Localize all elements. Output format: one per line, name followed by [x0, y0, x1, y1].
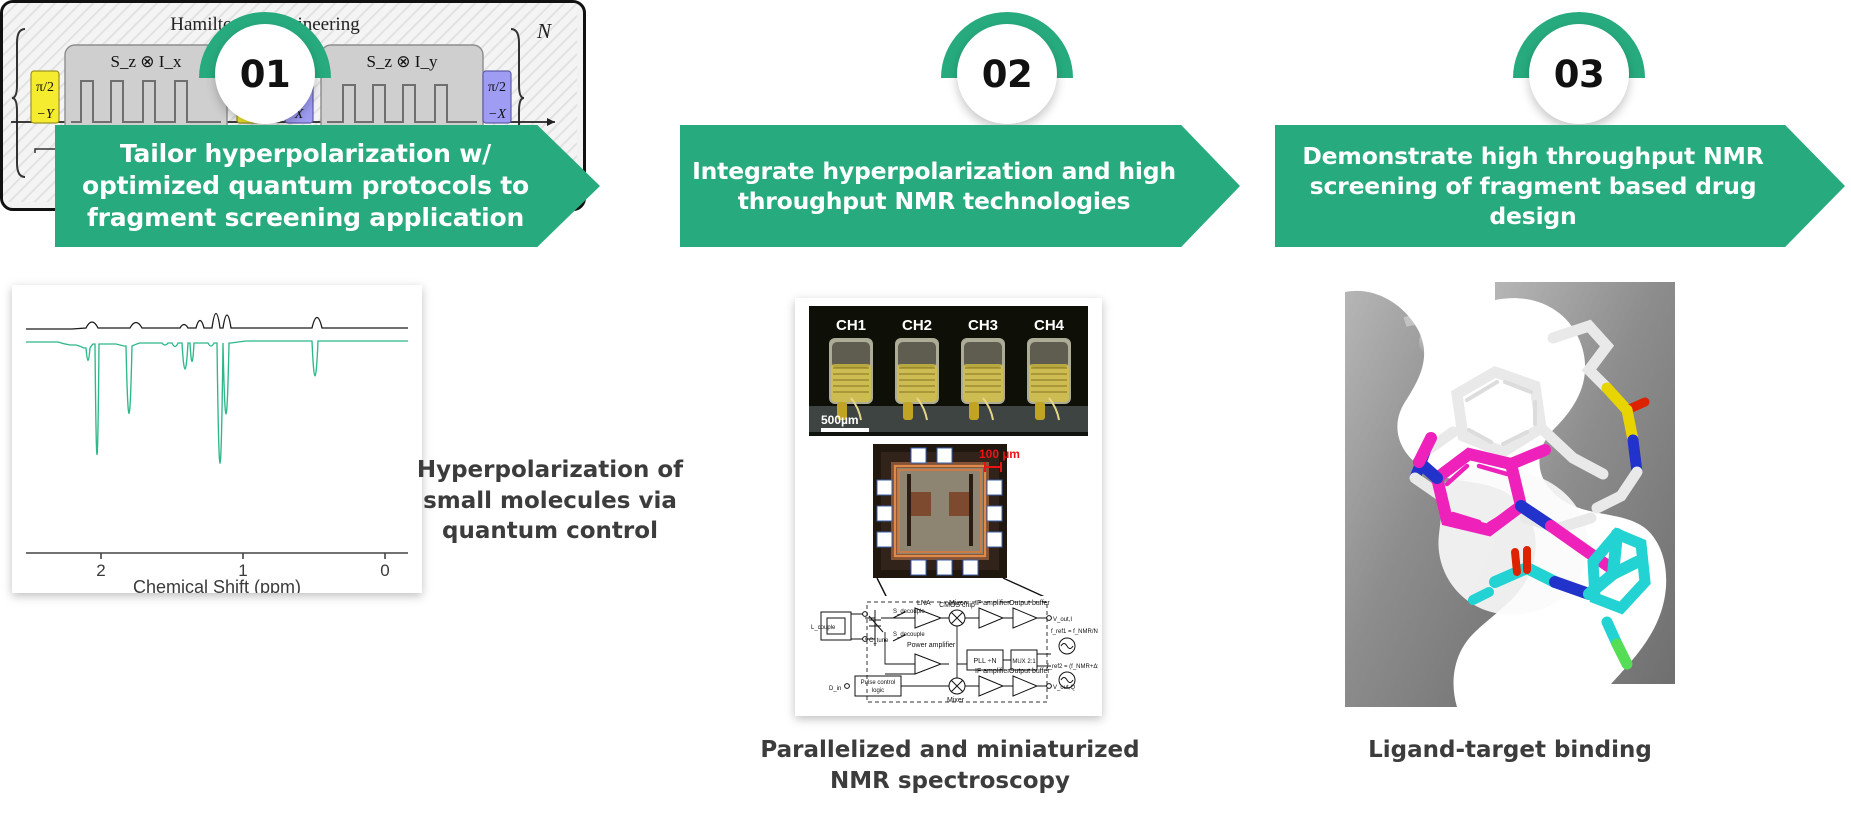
- x-axis-label: Chemical Shift (ppm): [133, 577, 301, 593]
- nmr-spectrum-svg: 2 1 0 Chemical Shift (ppm): [12, 285, 422, 593]
- column-2: 02 Integrate hyperpolarization and high …: [675, 0, 1260, 817]
- caption-column-3: Ligand-target binding: [1345, 735, 1675, 766]
- badge-number: 01: [240, 53, 291, 96]
- pulse-bottom-4: −X: [488, 107, 506, 122]
- badge-circle: 03: [1529, 24, 1629, 124]
- label-din: D_in: [829, 686, 841, 692]
- label-sdecouple-2: S_decouple: [893, 632, 925, 638]
- channel-label-2: CH2: [902, 317, 932, 334]
- block-label-if-amp-2: IF amplifier: [975, 668, 1010, 675]
- caption-column-1: Hyperpolarization of small molecules via…: [415, 455, 685, 547]
- pulse-box-minus-y: π/2 −Y: [31, 71, 59, 123]
- x-tick-label-2: 2: [96, 561, 105, 580]
- channel-label-3: CH3: [968, 317, 998, 334]
- scale-bar-label-100um: 100 µm: [979, 447, 1020, 461]
- nmr-spectrum-figure: 2 1 0 Chemical Shift (ppm): [12, 285, 422, 593]
- block-label-mixer-2: Mixer: [947, 697, 965, 704]
- block-operator-2: S_z ⊗ I_y: [367, 52, 438, 71]
- column-3: 03 Demonstrate high throughput NMR scree…: [1265, 0, 1851, 817]
- scale-bar-label-500um: 500µm: [821, 413, 859, 427]
- channel-label-4: CH4: [1034, 317, 1065, 334]
- nmr-chip-svg: CH1 CH2 CH3 CH4 500µm: [799, 302, 1098, 712]
- banner-step-1[interactable]: Tailor hyperpolarization w/ optimized qu…: [55, 125, 600, 247]
- badge-number: 03: [1554, 53, 1605, 96]
- block-label-mixer-1: Mixer: [949, 600, 967, 607]
- badge-number: 02: [982, 53, 1033, 96]
- banner-label: Tailor hyperpolarization w/ optimized qu…: [55, 138, 556, 234]
- banner-step-3[interactable]: Demonstrate high throughput NMR screenin…: [1275, 125, 1845, 247]
- block-operator-1: S_z ⊗ I_x: [111, 52, 182, 71]
- label-vout-i: V_out,I: [1053, 617, 1072, 623]
- repeat-count-label: N: [536, 19, 552, 43]
- pulse-top-1: π/2: [36, 80, 54, 95]
- step-badge-01[interactable]: 01: [199, 12, 331, 130]
- pulse-top-4: π/2: [488, 80, 506, 95]
- label-fref2: f_ref2 = (f_NMR+Δf)/N: [1047, 664, 1098, 670]
- pulse-bottom-1: −Y: [36, 107, 55, 122]
- block-label-if-amp-1: IF amplifier: [975, 600, 1010, 607]
- block-label-pll: PLL ÷N: [973, 658, 996, 665]
- step-badge-03[interactable]: 03: [1513, 12, 1645, 130]
- x-tick-label-0: 0: [380, 561, 389, 580]
- banner-label: Integrate hyperpolarization and high thr…: [680, 156, 1188, 216]
- block-label-power-amp: Power amplifier: [907, 642, 956, 649]
- block-label-out-buf-1: Output buffer: [1009, 600, 1050, 607]
- label-fref1: f_ref1 = f_NMR/N: [1051, 629, 1098, 635]
- step-badge-02[interactable]: 02: [941, 12, 1073, 130]
- banner-step-2[interactable]: Integrate hyperpolarization and high thr…: [680, 125, 1240, 247]
- block-label-mux: MUX 2:1: [1012, 659, 1036, 665]
- label-lcouple: L_couple: [811, 625, 836, 631]
- block-label-lna: LNA: [917, 600, 931, 607]
- cmos-block-diagram: CMOS chip L_couple C_tune S_decouple: [807, 596, 1098, 708]
- nmr-chip-figure: CH1 CH2 CH3 CH4 500µm: [795, 298, 1102, 716]
- column-1: 01 Tailor hyperpolarization w/ optimized…: [0, 0, 680, 817]
- channel-label-1: CH1: [836, 317, 866, 334]
- caption-column-2: Parallelized and miniaturized NMR spectr…: [740, 735, 1160, 796]
- ligand-binding-svg: [1345, 282, 1675, 707]
- block-label-out-buf-2: Output buffer: [1009, 668, 1050, 675]
- ligand-binding-figure: [1345, 282, 1675, 707]
- svg-text:Pulse control: Pulse control: [861, 680, 896, 686]
- roadmap-infographic: 01 Tailor hyperpolarization w/ optimized…: [0, 0, 1851, 817]
- pulse-box-minus-x: π/2 −X: [483, 71, 511, 123]
- microcoil-micrograph: CH1 CH2 CH3 CH4 500µm: [809, 306, 1088, 436]
- banner-label: Demonstrate high throughput NMR screenin…: [1275, 141, 1791, 231]
- badge-circle: 02: [957, 24, 1057, 124]
- badge-circle: 01: [215, 24, 315, 124]
- svg-text:logic: logic: [872, 688, 884, 694]
